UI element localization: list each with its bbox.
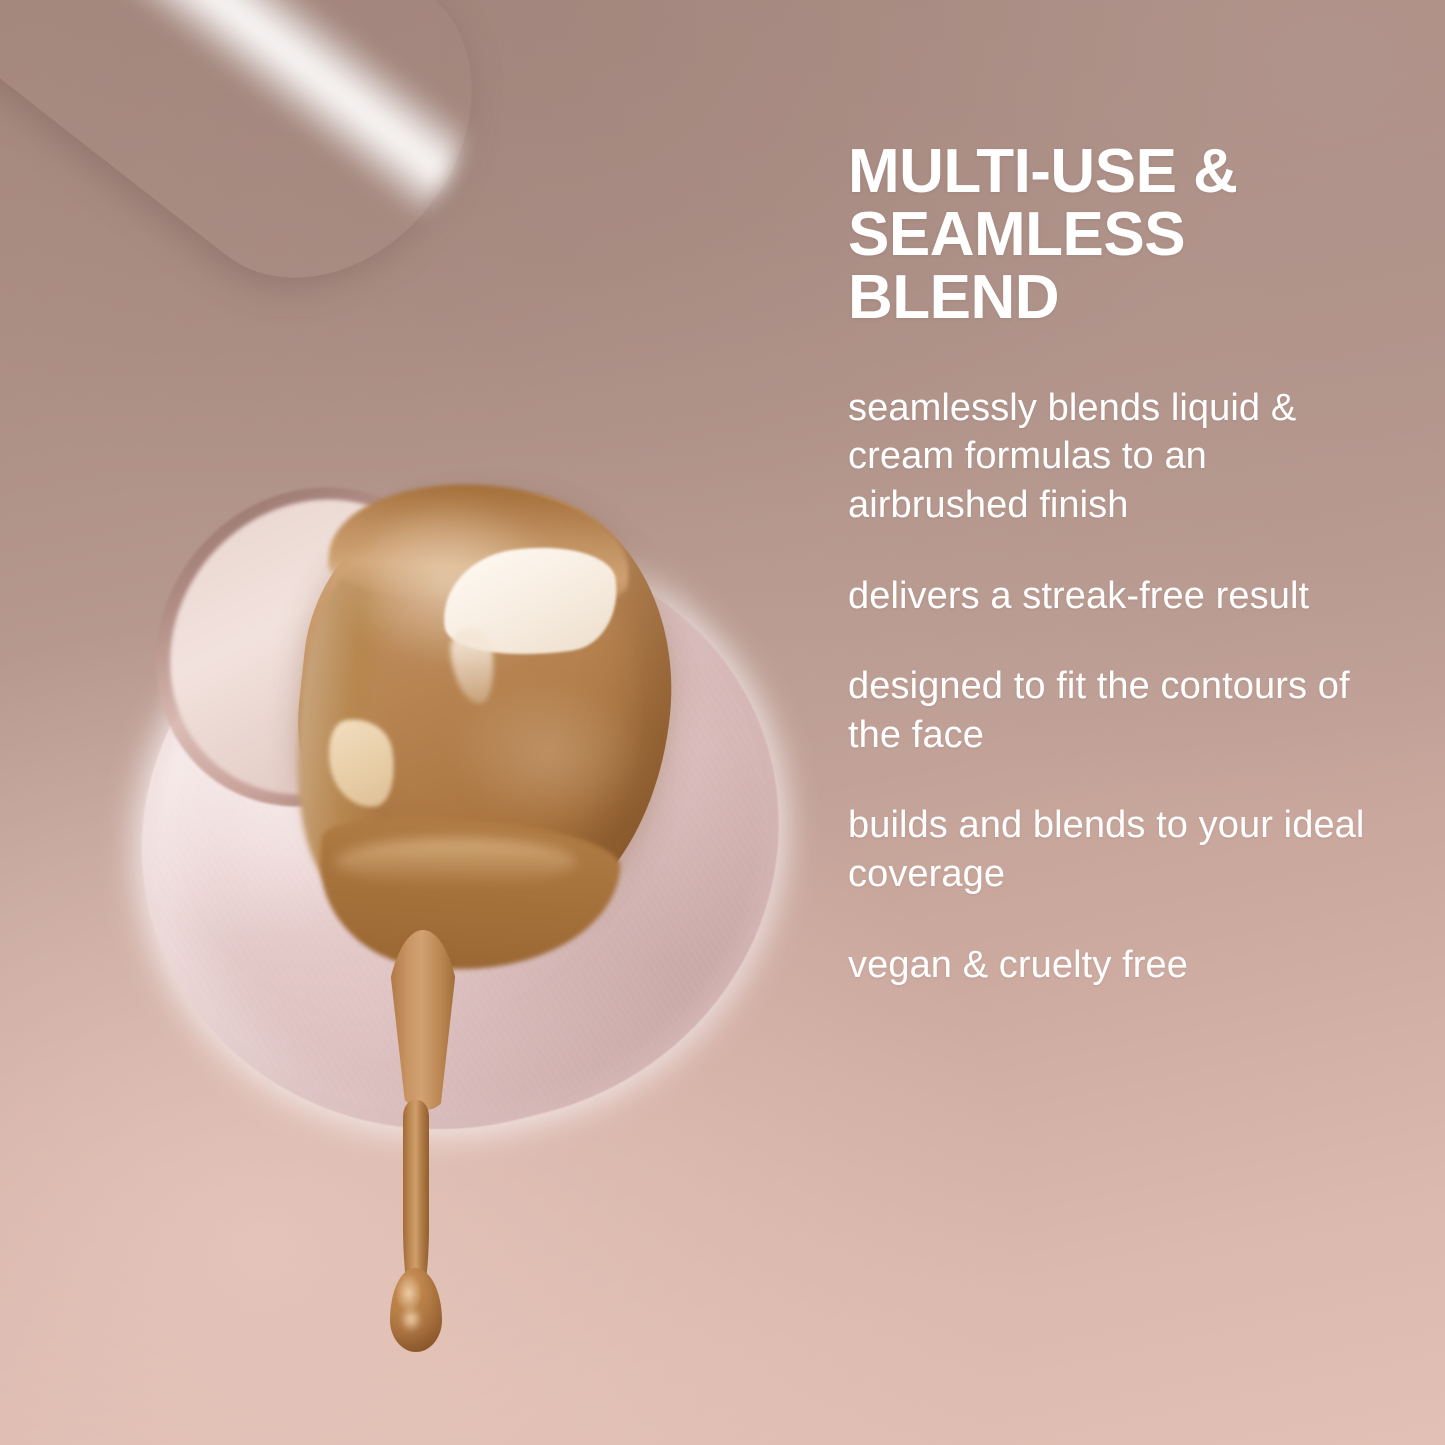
benefit-list: seamlessly blends liquid & cream formula… xyxy=(848,384,1408,990)
headline: MULTI-USE & SEAMLESS BLEND xyxy=(848,140,1408,330)
product-feature-graphic: MULTI-USE & SEAMLESS BLEND seamlessly bl… xyxy=(0,0,1445,1445)
brush-handle-specular-highlight xyxy=(0,0,532,335)
product-image xyxy=(0,0,820,1445)
benefit-item: designed to fit the contours of the face xyxy=(848,662,1393,759)
benefit-item: seamlessly blends liquid & cream formula… xyxy=(848,384,1393,530)
foundation-pool-highlight xyxy=(336,838,576,886)
benefit-item: delivers a streak-free result xyxy=(848,572,1393,621)
benefit-item: builds and blends to your ideal coverage xyxy=(848,801,1393,898)
copy-panel: MULTI-USE & SEAMLESS BLEND seamlessly bl… xyxy=(848,140,1408,989)
benefit-item: vegan & cruelty free xyxy=(848,941,1393,990)
foundation-drip-bead-highlight xyxy=(400,1306,422,1332)
